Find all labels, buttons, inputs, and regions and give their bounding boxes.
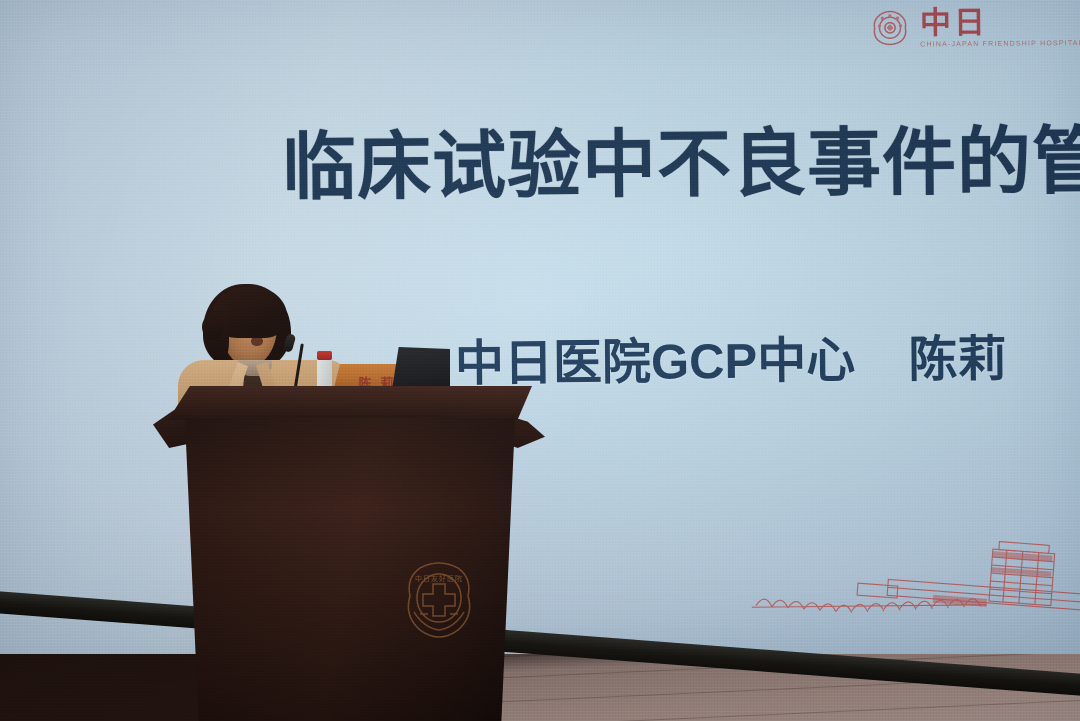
hospital-cross-emblem-icon: 中日友好医院	[400, 554, 478, 650]
svg-text:中日友好医院: 中日友好医院	[415, 574, 463, 583]
slide-subtitle-org: 中日医院GCP中心	[455, 334, 856, 391]
podium-body: 中日友好医院	[178, 418, 522, 721]
slide-subtitle-speaker: 陈莉	[908, 333, 1006, 388]
speaker-hair-bun	[202, 314, 224, 340]
slide-title: 临床试验中不良事件的管理	[282, 125, 1025, 205]
podium: 中日友好医院	[150, 386, 550, 721]
hospital-flower-emblem-icon	[869, 7, 911, 49]
lecture-photo: 中日 CHINA-JAPAN FRIENDSHIP HOSPITAL 临床试验中…	[0, 0, 1080, 721]
slide-subtitle: 中日医院GCP中心 陈莉	[455, 336, 1007, 390]
hospital-logo: 中日 CHINA-JAPAN FRIENDSHIP HOSPITAL	[869, 5, 1080, 49]
logo-en-text: CHINA-JAPAN FRIENDSHIP HOSPITAL	[920, 40, 1080, 48]
water-bottle-cap	[317, 351, 332, 360]
podium-top-surface	[168, 386, 532, 420]
logo-cn-text: 中日	[920, 6, 1080, 38]
